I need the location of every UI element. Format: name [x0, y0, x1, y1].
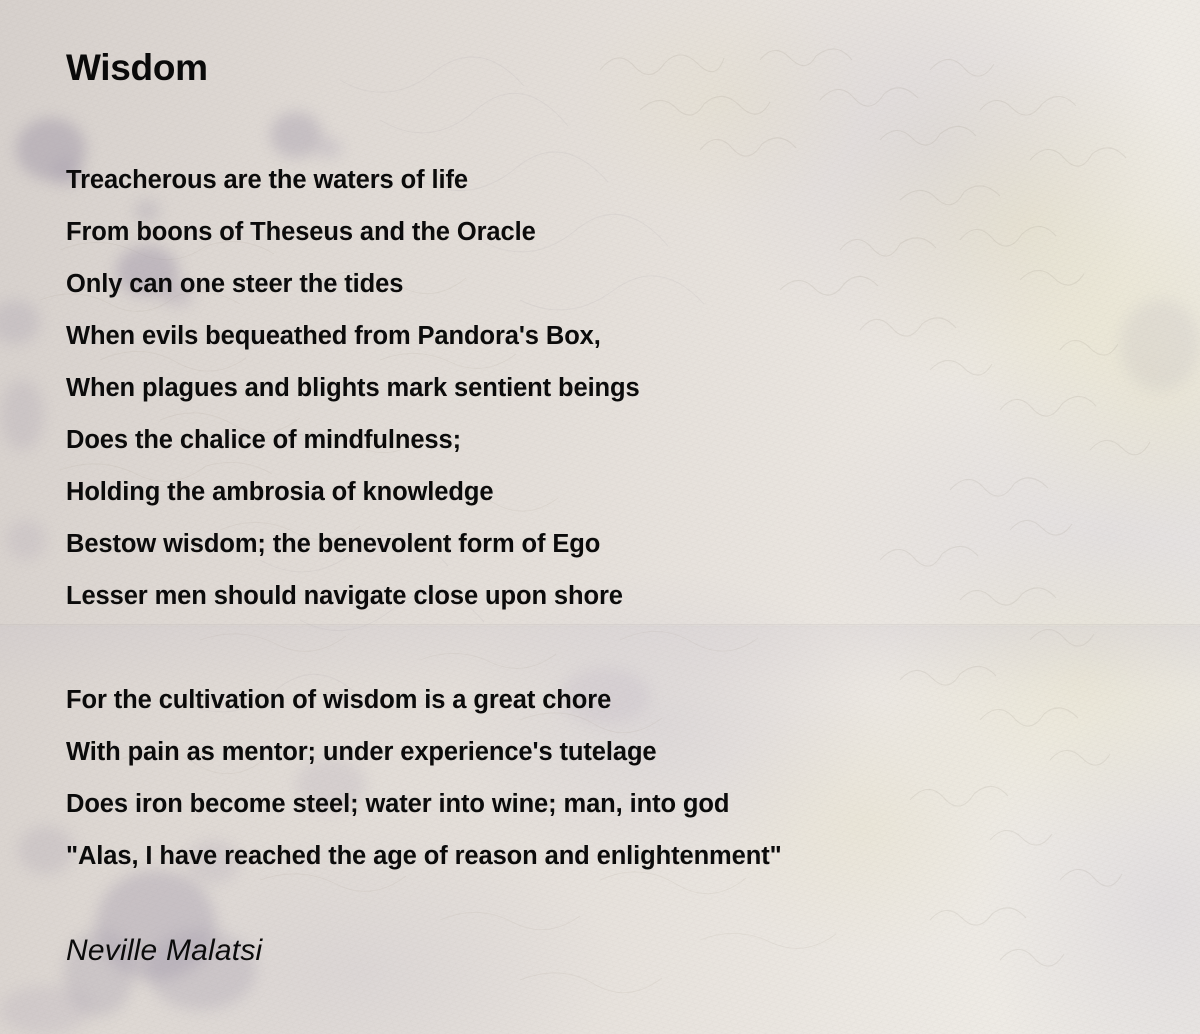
poem-line: Treacherous are the waters of life: [66, 154, 1126, 206]
author-signature: Neville Malatsi: [66, 934, 262, 968]
poem-line: Holding the ambrosia of knowledge: [66, 466, 1126, 518]
poem-line: "Alas, I have reached the age of reason …: [66, 830, 1126, 882]
page-title: Wisdom: [66, 48, 208, 89]
poem-line: When plagues and blights mark sentient b…: [66, 362, 1126, 414]
poem-line: With pain as mentor; under experience's …: [66, 726, 1126, 778]
poem-line: Lesser men should navigate close upon sh…: [66, 570, 1126, 622]
poem-line: Does iron become steel; water into wine;…: [66, 778, 1126, 830]
poem-line: From boons of Theseus and the Oracle: [66, 206, 1126, 258]
poem-line: Bestow wisdom; the benevolent form of Eg…: [66, 518, 1126, 570]
poem-line: When evils bequeathed from Pandora's Box…: [66, 310, 1126, 362]
poem-page: Wisdom Treacherous are the waters of lif…: [0, 0, 1200, 1034]
poem-content: Wisdom Treacherous are the waters of lif…: [0, 0, 1200, 1034]
poem-line: Only can one steer the tides: [66, 258, 1126, 310]
poem-body: Treacherous are the waters of life From …: [66, 154, 1126, 882]
poem-line: Does the chalice of mindfulness;: [66, 414, 1126, 466]
poem-line: For the cultivation of wisdom is a great…: [66, 674, 1126, 726]
stanza-break: [66, 622, 1126, 674]
